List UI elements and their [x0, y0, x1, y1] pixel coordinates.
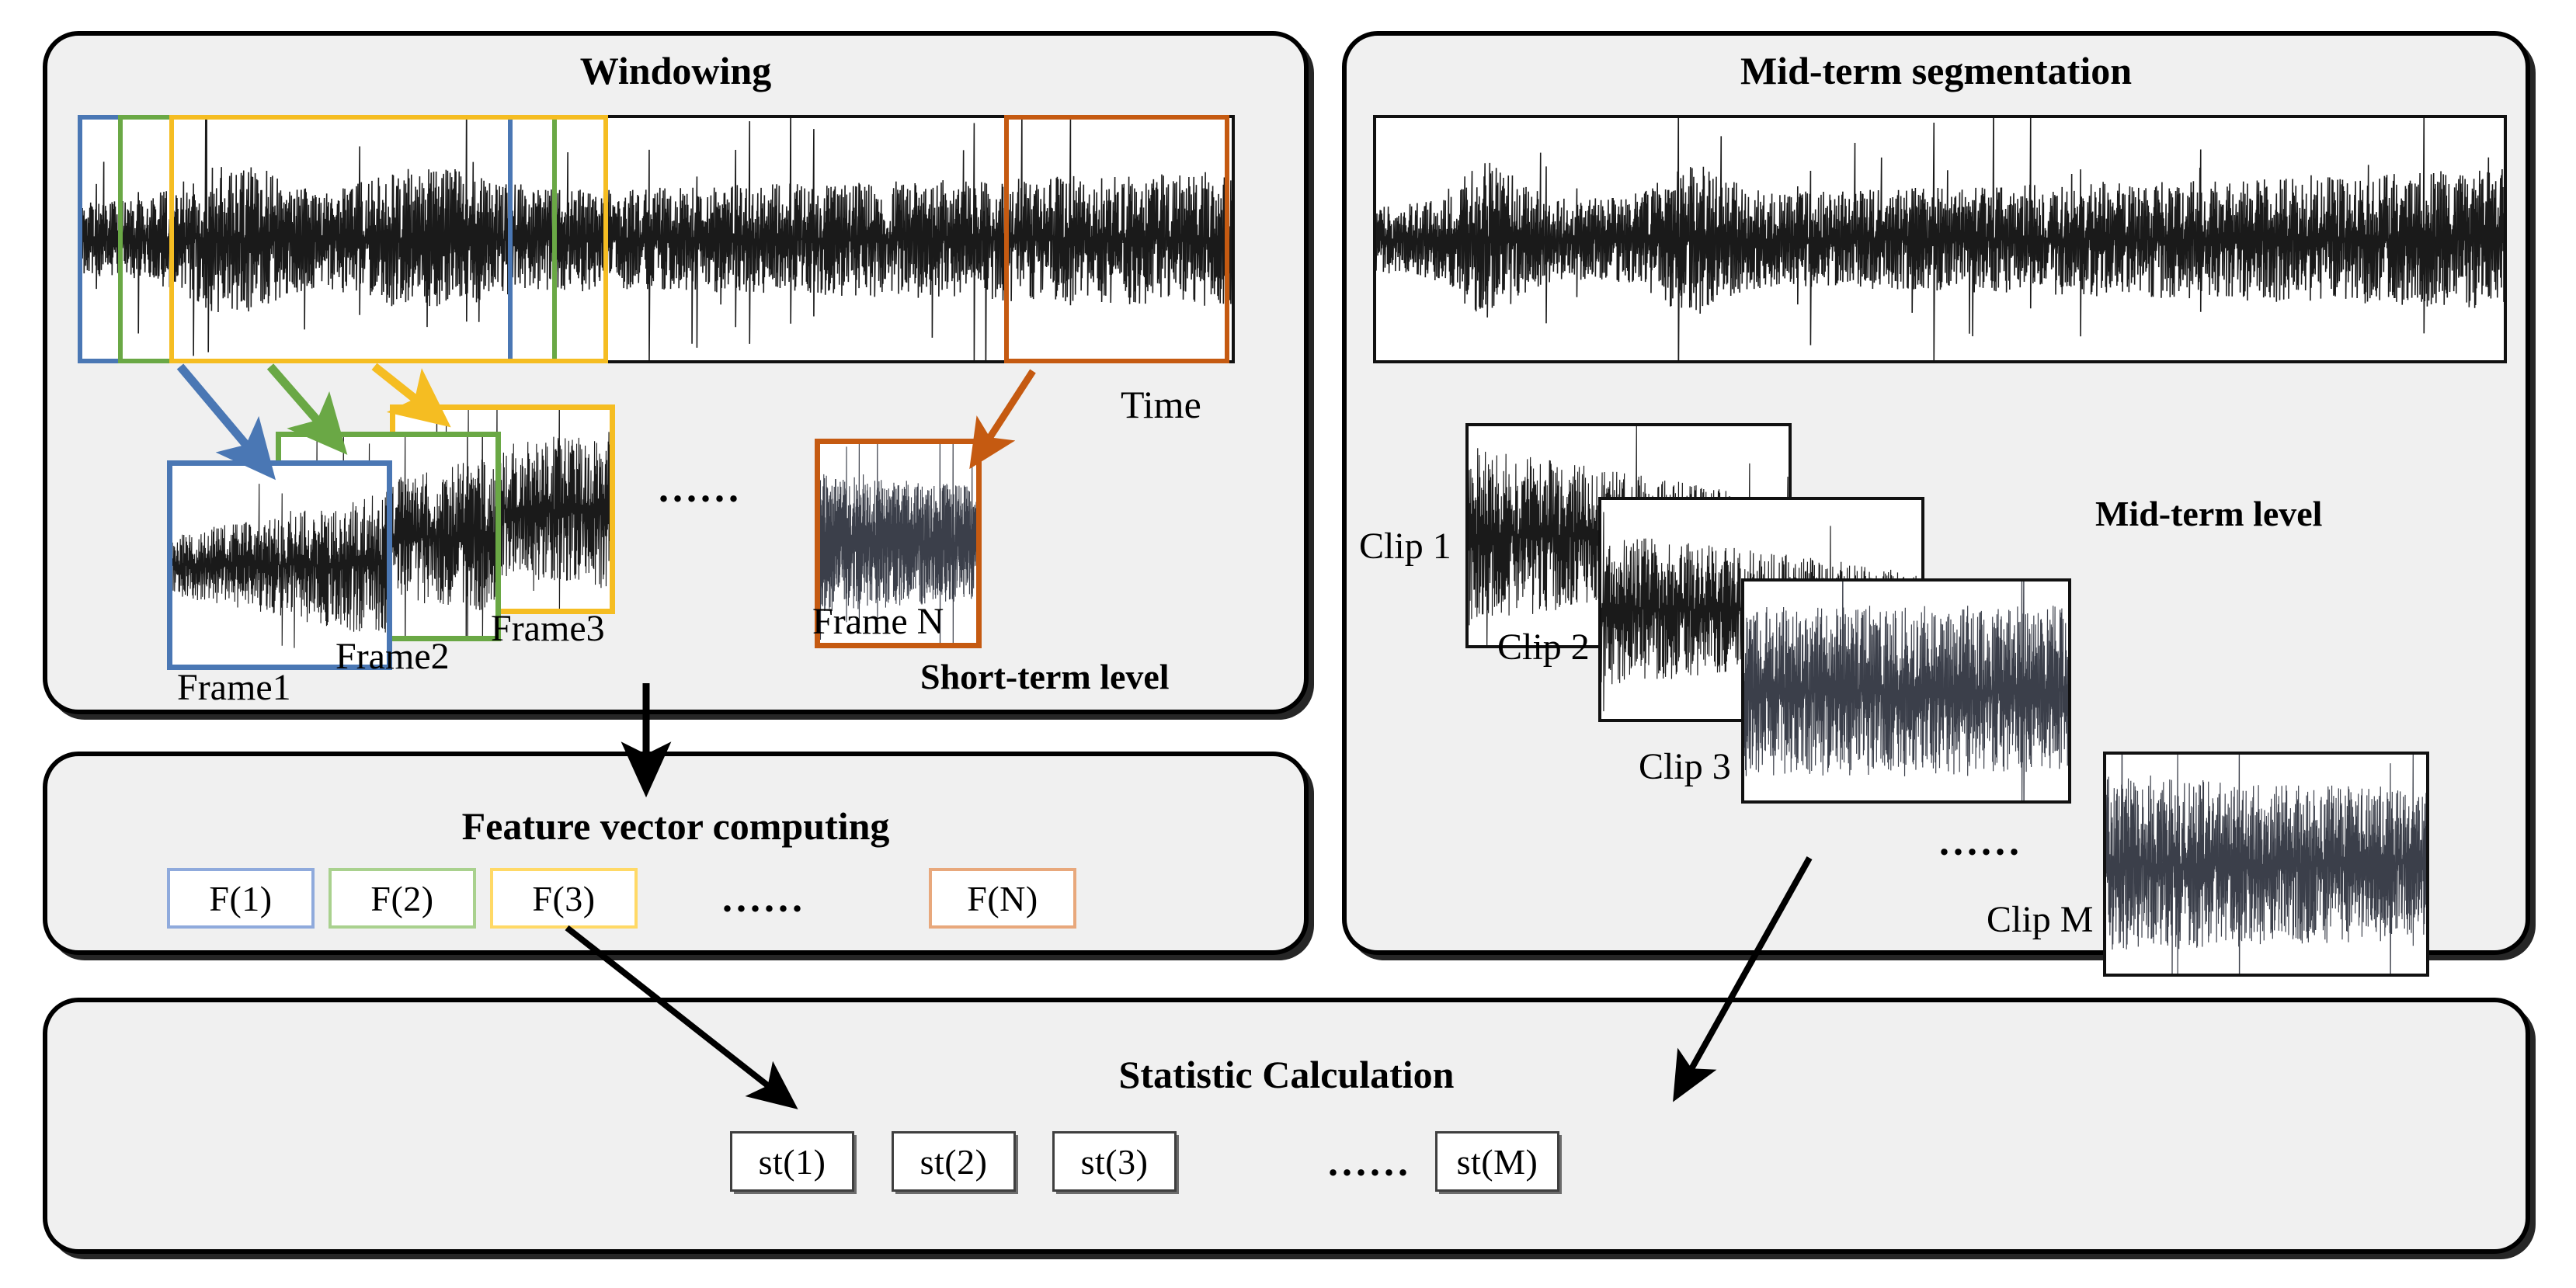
midterm-ellipsis: ...... [1939, 819, 2023, 865]
feature-box-f2: F(2) [329, 868, 476, 929]
clip-thumb-clip3 [1741, 578, 2071, 804]
window-rect-frameN [1004, 115, 1229, 363]
midterm-waveform-svg [1376, 118, 2504, 360]
frame-label-frame3: Frame3 [491, 607, 605, 650]
midterm-waveform [1373, 115, 2507, 363]
panel-statistic-calculation [43, 998, 2530, 1254]
frame-label-frameN: Frame N [812, 600, 944, 643]
clipM-waveform-svg [2106, 755, 2426, 974]
windowing-ellipsis: ...... [659, 466, 742, 512]
short-term-level-label: Short-term level [920, 656, 1170, 697]
clip-label-clipM: Clip M [1987, 898, 2093, 941]
statistic-ellipsis: ...... [1328, 1140, 1412, 1186]
clip-label-clip2: Clip 2 [1497, 626, 1590, 668]
feature-box-f1: F(1) [167, 868, 315, 929]
feature-box-fn: F(N) [929, 868, 1076, 929]
clip3-waveform-svg [1744, 582, 2068, 800]
feature-title: Feature vector computing [43, 804, 1309, 849]
stat-box-st1: st(1) [730, 1131, 854, 1192]
frame-label-frame2: Frame2 [335, 635, 450, 678]
clip-thumb-clipM [2103, 752, 2429, 977]
feature-box-f3: F(3) [490, 868, 638, 929]
stat-box-stm: st(M) [1435, 1131, 1559, 1192]
midterm-title: Mid-term segmentation [1342, 48, 2530, 93]
feature-ellipsis: ...... [722, 876, 806, 922]
midterm-level-label: Mid-term level [2095, 493, 2322, 534]
windowing-title: Windowing [43, 48, 1309, 93]
stat-box-st3: st(3) [1052, 1131, 1177, 1192]
clip-label-clip3: Clip 3 [1639, 745, 1731, 788]
window-rect-frame3 [169, 115, 608, 363]
stat-box-st2: st(2) [892, 1131, 1016, 1192]
time-axis-label: Time [1121, 382, 1201, 427]
clip-label-clip1: Clip 1 [1359, 525, 1451, 568]
frame-label-frame1: Frame1 [177, 666, 291, 709]
figure-root: Windowing Time Frame1 Frame2 [0, 0, 2576, 1288]
statistic-title: Statistic Calculation [43, 1052, 2530, 1097]
